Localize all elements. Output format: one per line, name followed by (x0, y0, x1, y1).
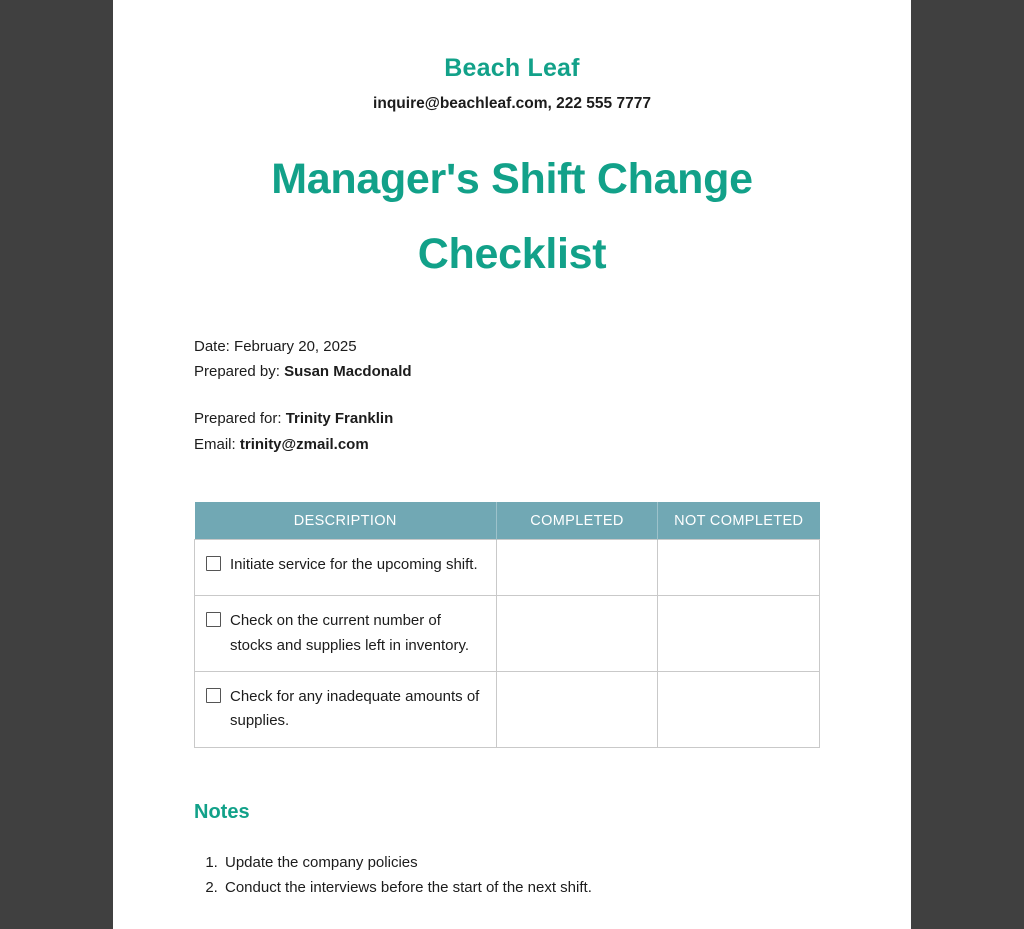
prepared-by-value: Susan Macdonald (284, 363, 412, 380)
task-description-cell: Check for any inadequate amounts of supp… (195, 671, 497, 747)
list-item: Update the company policies (222, 850, 830, 875)
list-item: Conduct the interviews before the start … (222, 875, 830, 900)
not-completed-cell[interactable] (658, 540, 820, 596)
meta-line-date: Date: February 20, 2025 (194, 334, 830, 359)
meta-line-prepared-for: Prepared for: Trinity Franklin (194, 406, 830, 431)
checklist-table: DESCRIPTION COMPLETED NOT COMPLETED Init… (194, 502, 820, 748)
column-header-not-completed: NOT COMPLETED (658, 502, 820, 540)
company-name: Beach Leaf (194, 53, 830, 83)
checkbox-icon[interactable] (206, 556, 221, 571)
task-label: Initiate service for the upcoming shift. (230, 553, 478, 577)
task-label: Check on the current number of stocks an… (230, 609, 482, 658)
not-completed-cell[interactable] (658, 671, 820, 747)
prepared-for-value: Trinity Franklin (286, 410, 394, 427)
task-label: Check for any inadequate amounts of supp… (230, 685, 482, 734)
email-value: trinity@zmail.com (240, 436, 369, 453)
notes-list: Update the company policies Conduct the … (194, 850, 830, 900)
notes-heading: Notes (194, 801, 830, 824)
task-description-cell: Check on the current number of stocks an… (195, 596, 497, 672)
prepared-for-label: Prepared for: (194, 410, 282, 427)
date-value: February 20, 2025 (234, 338, 357, 355)
meta-group-recipient: Prepared for: Trinity Franklin Email: tr… (194, 406, 830, 456)
completed-cell[interactable] (497, 671, 658, 747)
meta-line-email: Email: trinity@zmail.com (194, 432, 830, 457)
table-header-row: DESCRIPTION COMPLETED NOT COMPLETED (195, 502, 820, 540)
column-header-completed: COMPLETED (497, 502, 658, 540)
checkbox-icon[interactable] (206, 612, 221, 627)
table-row: Check for any inadequate amounts of supp… (195, 671, 820, 747)
table-row: Check on the current number of stocks an… (195, 596, 820, 672)
document-page: Beach Leaf inquire@beachleaf.com, 222 55… (113, 0, 911, 929)
company-contact-line: inquire@beachleaf.com, 222 555 7777 (194, 95, 830, 114)
document-title: Manager's Shift Change Checklist (194, 142, 830, 293)
column-header-description: DESCRIPTION (195, 502, 497, 540)
prepared-by-label: Prepared by: (194, 363, 280, 380)
meta-group-preparer: Date: February 20, 2025 Prepared by: Sus… (194, 334, 830, 384)
date-label: Date: (194, 338, 230, 355)
not-completed-cell[interactable] (658, 596, 820, 672)
task-description-cell: Initiate service for the upcoming shift. (195, 540, 497, 596)
completed-cell[interactable] (497, 540, 658, 596)
table-row: Initiate service for the upcoming shift. (195, 540, 820, 596)
meta-line-prepared-by: Prepared by: Susan Macdonald (194, 359, 830, 384)
checkbox-icon[interactable] (206, 688, 221, 703)
document-meta: Date: February 20, 2025 Prepared by: Sus… (194, 334, 830, 457)
email-label: Email: (194, 436, 236, 453)
completed-cell[interactable] (497, 596, 658, 672)
